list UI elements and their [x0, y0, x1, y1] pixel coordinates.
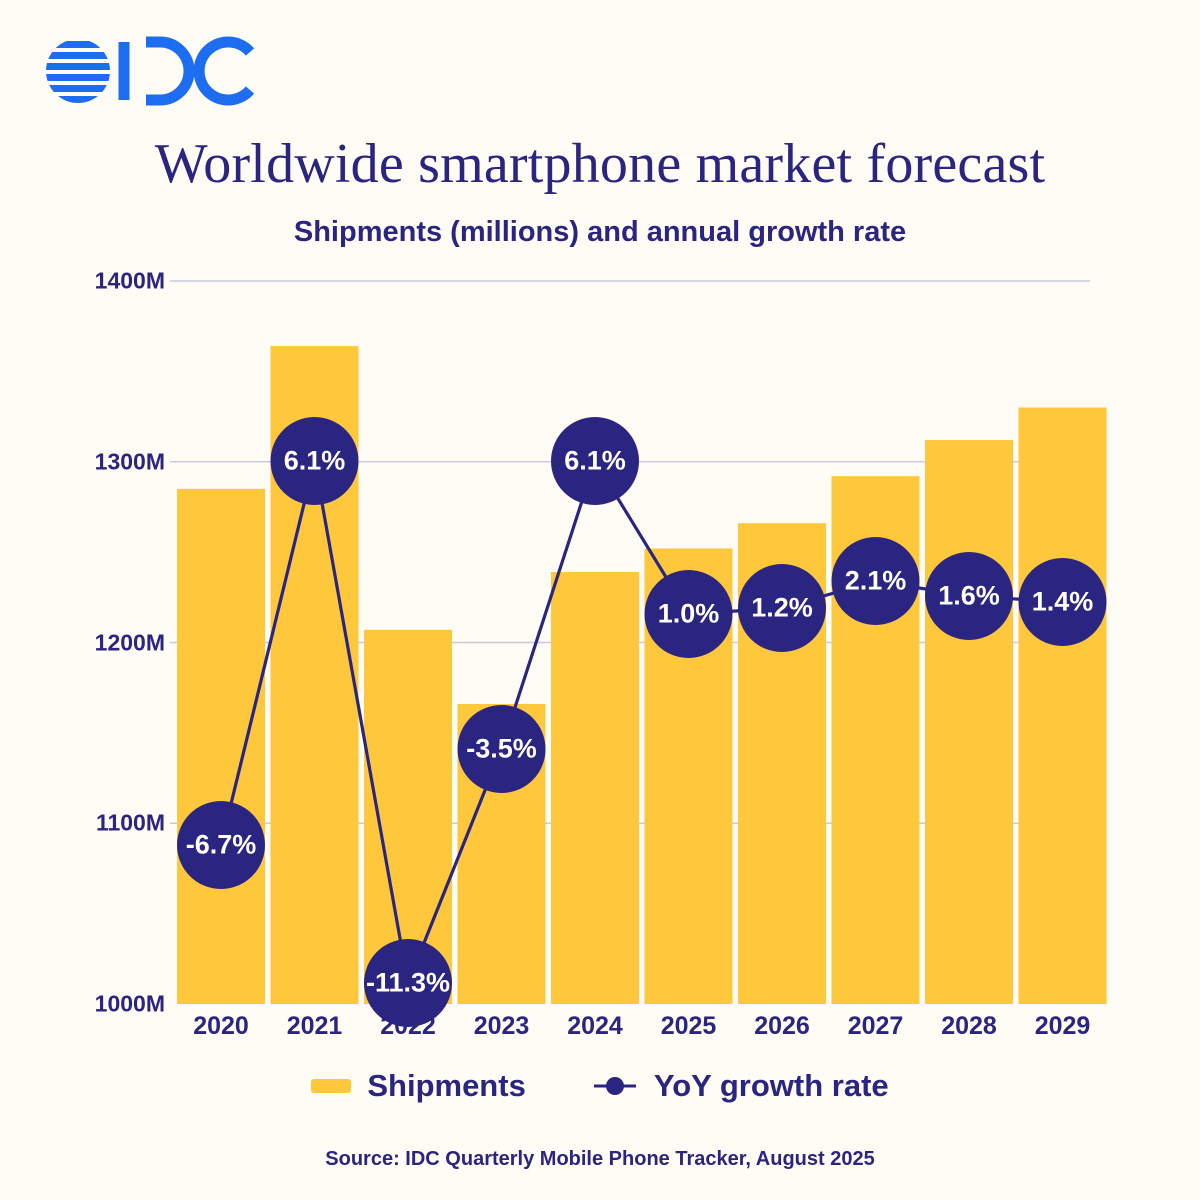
growth-bubble-2028[interactable] [925, 552, 1013, 640]
x-tick-label: 2027 [848, 1012, 904, 1041]
bar-2020[interactable] [177, 489, 265, 1004]
y-tick-label: 1400M [95, 268, 165, 295]
x-tick-label: 2025 [661, 1012, 717, 1041]
growth-bubble-2024[interactable] [551, 417, 639, 505]
growth-bubble-2027[interactable] [832, 537, 920, 625]
x-tick-label: 2022 [380, 1012, 436, 1041]
x-tick-label: 2024 [567, 1012, 623, 1041]
y-tick-label: 1000M [95, 991, 165, 1018]
growth-bubble-2025[interactable] [645, 570, 733, 658]
y-tick-label: 1200M [95, 629, 165, 656]
growth-bubble-2020[interactable] [177, 801, 265, 889]
x-tick-label: 2023 [474, 1012, 530, 1041]
x-tick-label: 2029 [1035, 1012, 1091, 1041]
growth-bubble-2029[interactable] [1019, 558, 1107, 646]
source-note: Source: IDC Quarterly Mobile Phone Track… [0, 1148, 1200, 1171]
x-tick-label: 2026 [754, 1012, 810, 1041]
legend-bar-swatch-icon [311, 1079, 351, 1093]
x-tick-label: 2021 [287, 1012, 343, 1041]
growth-bubble-2023[interactable] [458, 705, 546, 793]
legend-item-growth-rate[interactable]: YoY growth rate [592, 1068, 889, 1104]
legend-item-shipments[interactable]: Shipments [311, 1068, 525, 1104]
legend-label-shipments: Shipments [367, 1068, 525, 1104]
growth-bubble-2021[interactable] [271, 417, 359, 505]
y-axis-ticks: 1000M1100M1200M1300M1400M [0, 0, 165, 1200]
legend-line-dot-swatch-icon [592, 1076, 638, 1096]
bar-2028[interactable] [925, 440, 1013, 1004]
growth-bubble-2026[interactable] [738, 564, 826, 652]
bar-2024[interactable] [551, 572, 639, 1004]
x-tick-label: 2028 [941, 1012, 997, 1041]
y-tick-label: 1300M [95, 448, 165, 475]
x-tick-label: 2020 [193, 1012, 249, 1041]
legend-label-growth-rate: YoY growth rate [654, 1068, 889, 1104]
bar-2029[interactable] [1019, 408, 1107, 1004]
y-tick-label: 1100M [96, 810, 165, 837]
chart-legend: Shipments YoY growth rate [0, 1068, 1200, 1104]
